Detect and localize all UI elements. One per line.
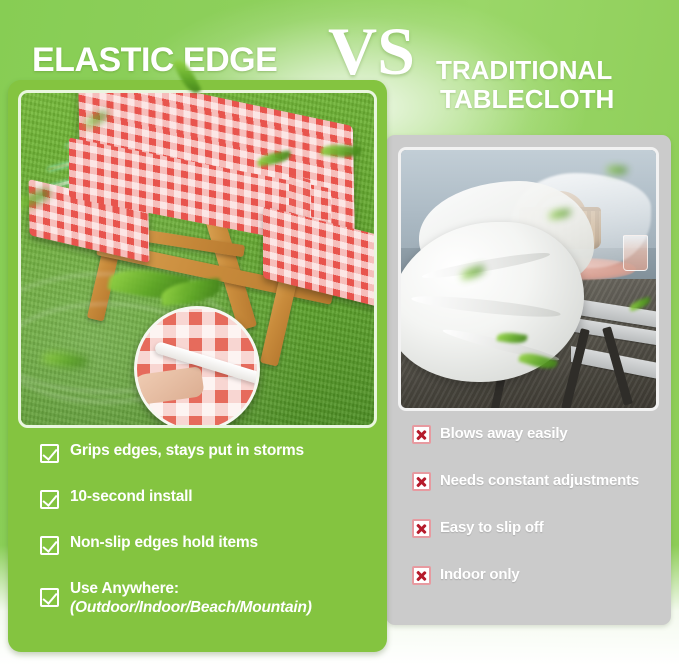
check-icon	[40, 490, 59, 509]
cross-icon	[412, 566, 431, 585]
list-item-label: Blows away easily	[440, 426, 568, 443]
list-item: Use Anywhere: (Outdoor/Indoor/Beach/Moun…	[40, 580, 370, 617]
list-item: Indoor only	[412, 566, 662, 585]
list-item-label: Non-slip edges hold items	[70, 534, 258, 553]
list-item: Needs constant adjustments	[412, 472, 662, 491]
cross-icon	[412, 519, 431, 538]
elastic-edge-pros-list: Grips edges, stays put in storms 10-seco…	[40, 442, 370, 617]
header-left-title: ELASTIC EDGE	[32, 41, 277, 80]
list-item-label: Needs constant adjustments	[440, 473, 639, 490]
elastic-edge-panel: Grips edges, stays put in storms 10-seco…	[8, 80, 387, 652]
list-item: Blows away easily	[412, 425, 662, 444]
traditional-cons-list: Blows away easily Needs constant adjustm…	[412, 425, 662, 585]
header-right-title-line1: TRADITIONAL	[436, 56, 614, 85]
elastic-edge-closeup-bubble	[134, 306, 260, 428]
list-item-label: Indoor only	[440, 567, 519, 584]
traditional-tablecloth-panel: Blows away easily Needs constant adjustm…	[386, 135, 671, 625]
header-right-title-line2: TABLECLOTH	[436, 85, 614, 114]
check-icon	[40, 588, 59, 607]
hand-icon	[134, 366, 205, 406]
cross-icon	[412, 472, 431, 491]
list-item-label: Easy to slip off	[440, 520, 544, 537]
list-item-label: Use Anywhere:	[70, 580, 179, 597]
list-item-label-group: Use Anywhere: (Outdoor/Indoor/Beach/Moun…	[70, 580, 312, 617]
list-item: Easy to slip off	[412, 519, 662, 538]
list-item-sublabel: (Outdoor/Indoor/Beach/Mountain)	[70, 599, 312, 618]
header-right-title: TRADITIONAL TABLECLOTH	[436, 56, 614, 114]
header-vs-label: VS	[328, 17, 415, 85]
list-item: Non-slip edges hold items	[40, 534, 370, 555]
list-item-label: Grips edges, stays put in storms	[70, 442, 304, 461]
check-icon	[40, 536, 59, 555]
elastic-edge-photo	[18, 90, 377, 428]
list-item: 10-second install	[40, 488, 370, 509]
check-icon	[40, 444, 59, 463]
traditional-tablecloth-photo	[398, 147, 659, 411]
list-item: Grips edges, stays put in storms	[40, 442, 370, 463]
list-item-label: 10-second install	[70, 488, 192, 507]
cross-icon	[412, 425, 431, 444]
